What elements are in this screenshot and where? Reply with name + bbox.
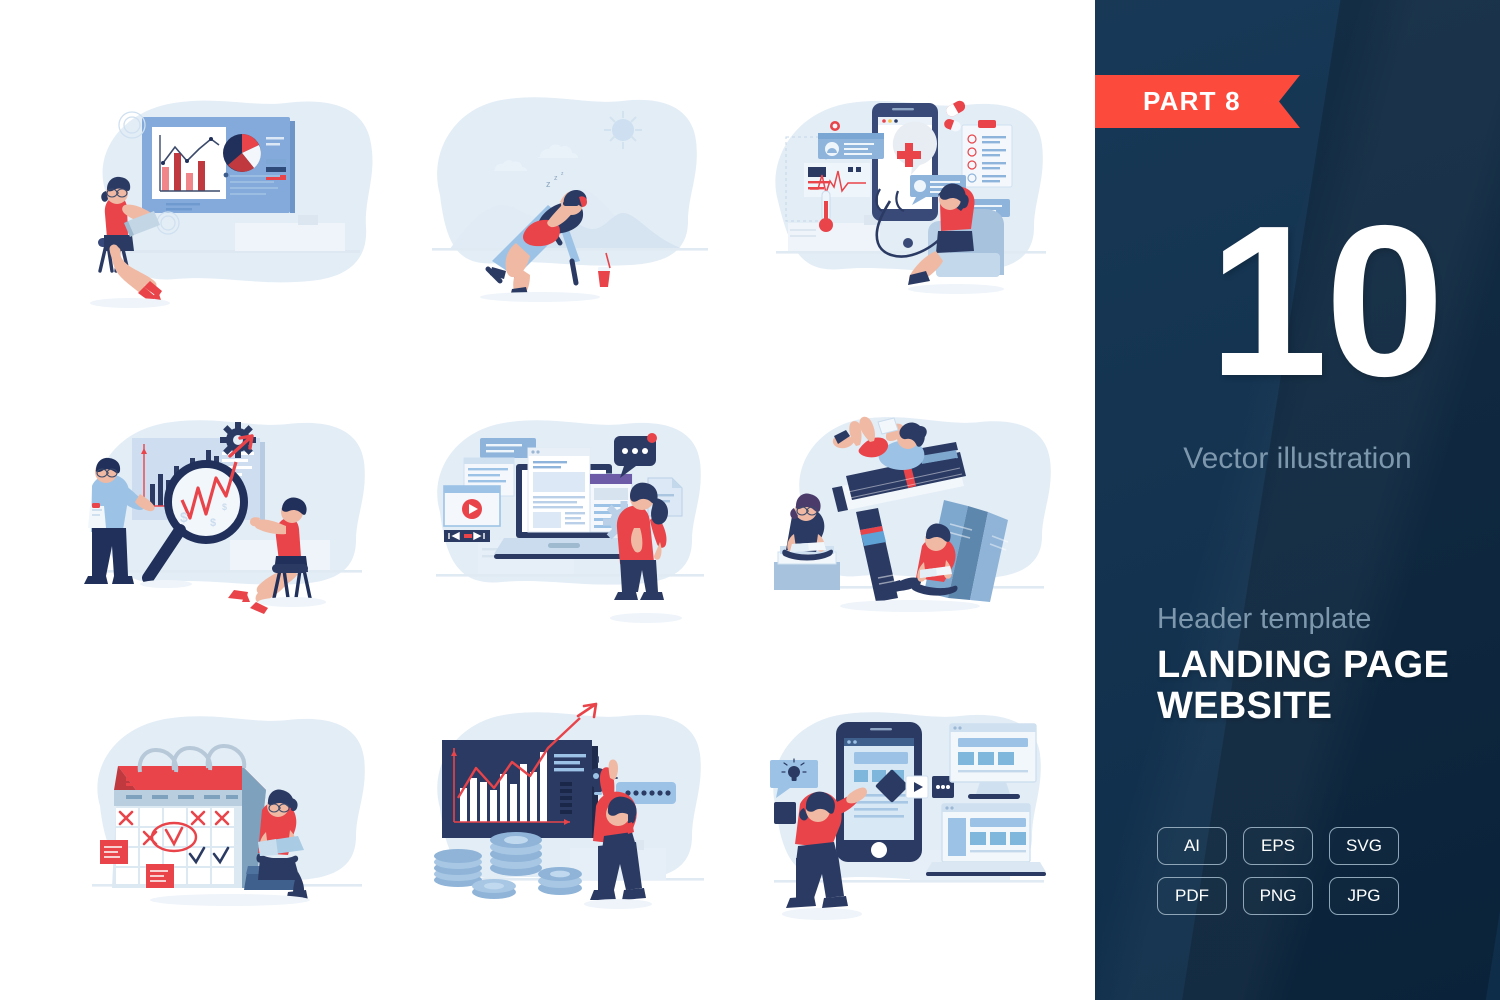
part-ribbon-label: PART 8 [1143,86,1241,117]
format-badge-svg[interactable]: SVG [1329,827,1399,865]
illustration-telemedicine[interactable] [760,75,1060,325]
format-badge-jpg[interactable]: JPG [1329,877,1399,915]
format-badge-png[interactable]: PNG [1243,877,1313,915]
header-block: Header template LANDING PAGE WEBSITE [1157,602,1449,727]
poster-canvas: zzz [0,0,1500,1000]
header-kicker: Header template [1157,602,1449,637]
illustration-business-presentation[interactable] [70,75,390,325]
format-badge-ai[interactable]: AI [1157,827,1227,865]
illustration-financial-analysis[interactable]: $$ $ [70,400,390,630]
illustration-reading-education[interactable] [760,400,1060,630]
illustration-responsive-design[interactable] [760,690,1060,930]
svg-text:$: $ [222,502,227,512]
svg-text:z: z [546,179,551,189]
part-ribbon: PART 8 [1095,75,1300,128]
format-badge-pdf[interactable]: PDF [1157,877,1227,915]
set-count-number: 10 [1155,200,1495,402]
format-badge-eps[interactable]: EPS [1243,827,1313,865]
illustration-schedule-planning[interactable] [70,700,390,930]
header-title-line-2: WEBSITE [1157,686,1449,727]
illustration-growth-investment[interactable] [420,690,720,930]
illustration-grid: zzz [0,0,1095,1000]
svg-text:$: $ [180,509,188,525]
format-badge-list: AI EPS SVG PDF PNG JPG [1157,827,1447,915]
illustration-vacation-relax[interactable]: zzz [420,75,720,325]
header-title-line-1: LANDING PAGE [1157,645,1449,686]
illustration-content-management[interactable] [420,400,720,630]
set-subtitle: Vector illustration [1095,442,1500,476]
svg-text:$: $ [210,517,216,529]
svg-text:z: z [554,175,558,182]
info-panel: PART 8 10 Vector illustration Header tem… [1095,0,1500,1000]
